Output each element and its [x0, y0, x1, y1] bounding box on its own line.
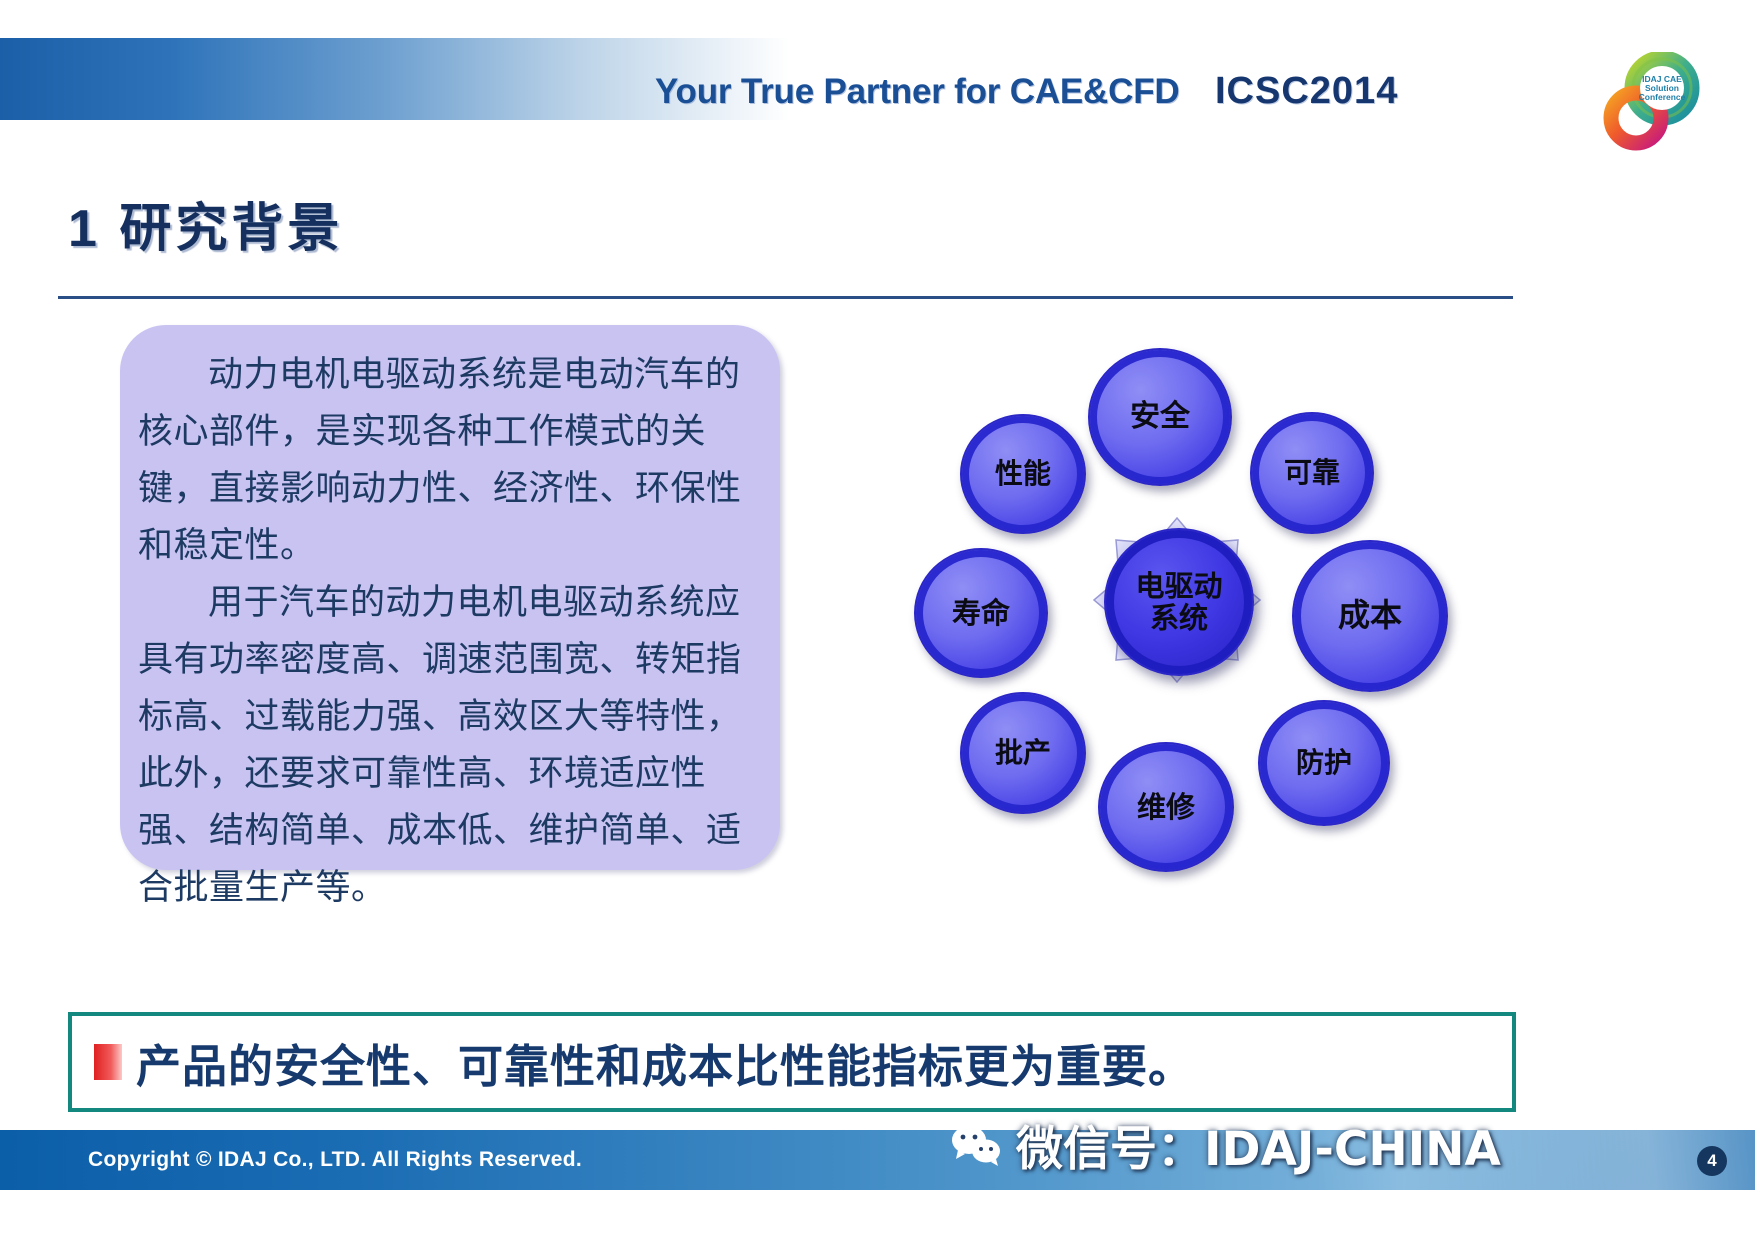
diagram-node-lifespan-label: 寿命 — [952, 597, 1010, 629]
diagram-node-massproduction-label: 批产 — [995, 737, 1051, 768]
diagram-node-center-line2: 系统 — [1135, 602, 1222, 634]
diagram-node-protection-label: 防护 — [1296, 747, 1352, 778]
diagram-node-maintenance-label: 维修 — [1137, 791, 1195, 823]
description-paragraph-1: 动力电机电驱动系统是电动汽车的核心部件，是实现各种工作模式的关键，直接影响动力性… — [138, 347, 762, 575]
key-conclusion-callout: 产品的安全性、可靠性和成本比性能指标更为重要。 — [68, 1012, 1516, 1112]
diagram-node-protection[interactable]: 防护 — [1258, 700, 1390, 826]
footer-copyright: Copyright © IDAJ Co., LTD. All Rights Re… — [88, 1148, 582, 1172]
diagram-node-massproduction[interactable]: 批产 — [960, 692, 1086, 814]
header-tagline: Your True Partner for CAE&CFD — [655, 72, 1179, 112]
bullet-square-icon — [94, 1044, 122, 1080]
description-paragraph-2: 用于汽车的动力电机电驱动系统应具有功率密度高、调速范围宽、转矩指标高、过载能力强… — [138, 575, 762, 917]
diagram-node-cost-label: 成本 — [1338, 598, 1402, 634]
diagram-node-performance-label: 性能 — [995, 458, 1051, 489]
diagram-node-center[interactable]: 电驱动 系统 — [1104, 528, 1254, 676]
idaj-conference-logo: IDAJ CAE Solution Conference — [1600, 52, 1710, 152]
header-conference-name: ICSC2014 — [1215, 70, 1398, 113]
wechat-watermark-text: 微信号：IDAJ-CHINA — [1016, 1110, 1501, 1179]
diagram-node-cost[interactable]: 成本 — [1292, 540, 1448, 692]
logo-rings-icon: IDAJ CAE Solution Conference — [1600, 52, 1710, 152]
logo-text-line3: Conference — [1639, 92, 1686, 102]
page-number-badge: 4 — [1697, 1146, 1727, 1176]
edrive-system-diagram: 电驱动 系统 安全 可靠 成本 防护 维修 批产 寿命 性能 — [880, 320, 1500, 880]
key-conclusion-text: 产品的安全性、可靠性和成本比性能指标更为重要。 — [136, 1030, 1194, 1095]
slide-root: Your True Partner for CAE&CFD ICSC2014 — [0, 0, 1755, 1241]
wechat-watermark: 微信号：IDAJ-CHINA — [950, 1110, 1501, 1179]
wechat-icon — [950, 1123, 1002, 1167]
diagram-node-safety-label: 安全 — [1130, 400, 1190, 434]
diagram-node-performance[interactable]: 性能 — [960, 414, 1086, 534]
description-card: 动力电机电驱动系统是电动汽车的核心部件，是实现各种工作模式的关键，直接影响动力性… — [120, 325, 780, 870]
diagram-node-maintenance[interactable]: 维修 — [1098, 742, 1234, 872]
diagram-node-reliability-label: 可靠 — [1284, 457, 1340, 488]
page-title: 1 研究背景 — [68, 186, 343, 261]
title-underline — [58, 296, 1513, 299]
diagram-node-center-line1: 电驱动 — [1135, 570, 1222, 602]
diagram-node-safety[interactable]: 安全 — [1088, 348, 1232, 486]
diagram-node-reliability[interactable]: 可靠 — [1250, 412, 1374, 534]
diagram-node-lifespan[interactable]: 寿命 — [914, 548, 1048, 678]
